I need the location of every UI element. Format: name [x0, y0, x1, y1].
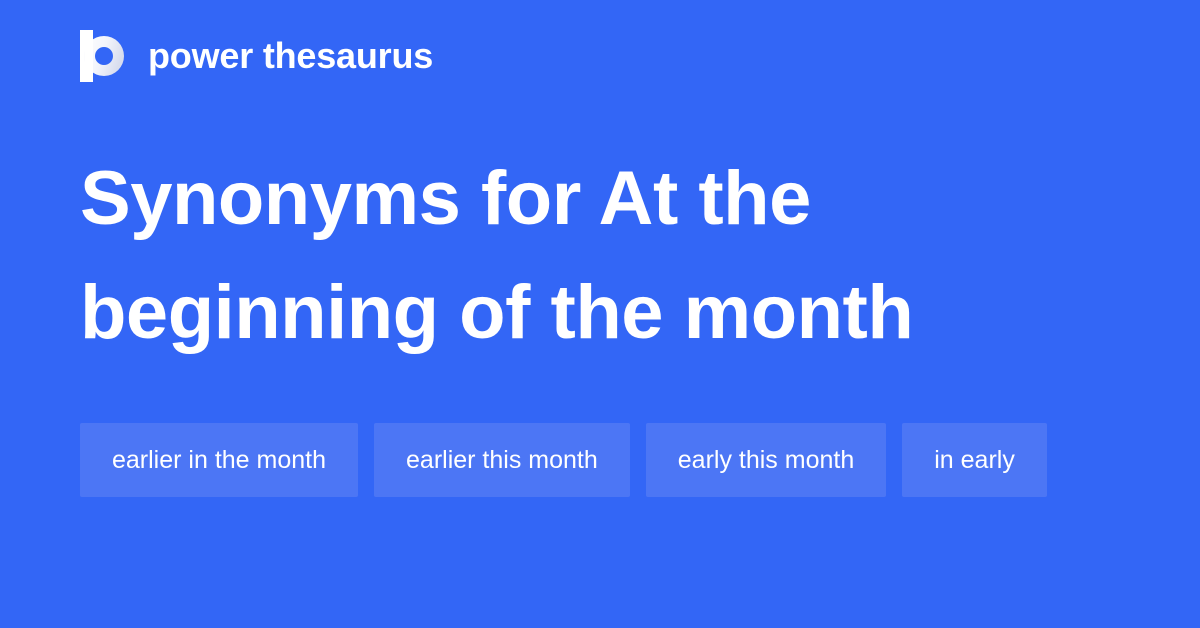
synonym-chip[interactable]: in early [902, 423, 1047, 497]
brand-name: power thesaurus [148, 38, 433, 74]
power-thesaurus-b-logo-icon [80, 30, 130, 82]
share-card: power thesaurus Synonyms for At the begi… [0, 0, 1200, 628]
synonym-chip[interactable]: earlier this month [374, 423, 630, 497]
page-title-line-1: Synonyms for At the [80, 142, 1100, 256]
page-title: Synonyms for At the beginning of the mon… [80, 142, 1100, 370]
page-title-line-2: beginning of the month [80, 256, 1100, 370]
synonym-chip[interactable]: early this month [646, 423, 886, 497]
synonym-list: earlier in the month earlier this month … [80, 423, 1120, 497]
synonym-chip[interactable]: earlier in the month [80, 423, 358, 497]
brand-logo[interactable]: power thesaurus [80, 28, 433, 84]
